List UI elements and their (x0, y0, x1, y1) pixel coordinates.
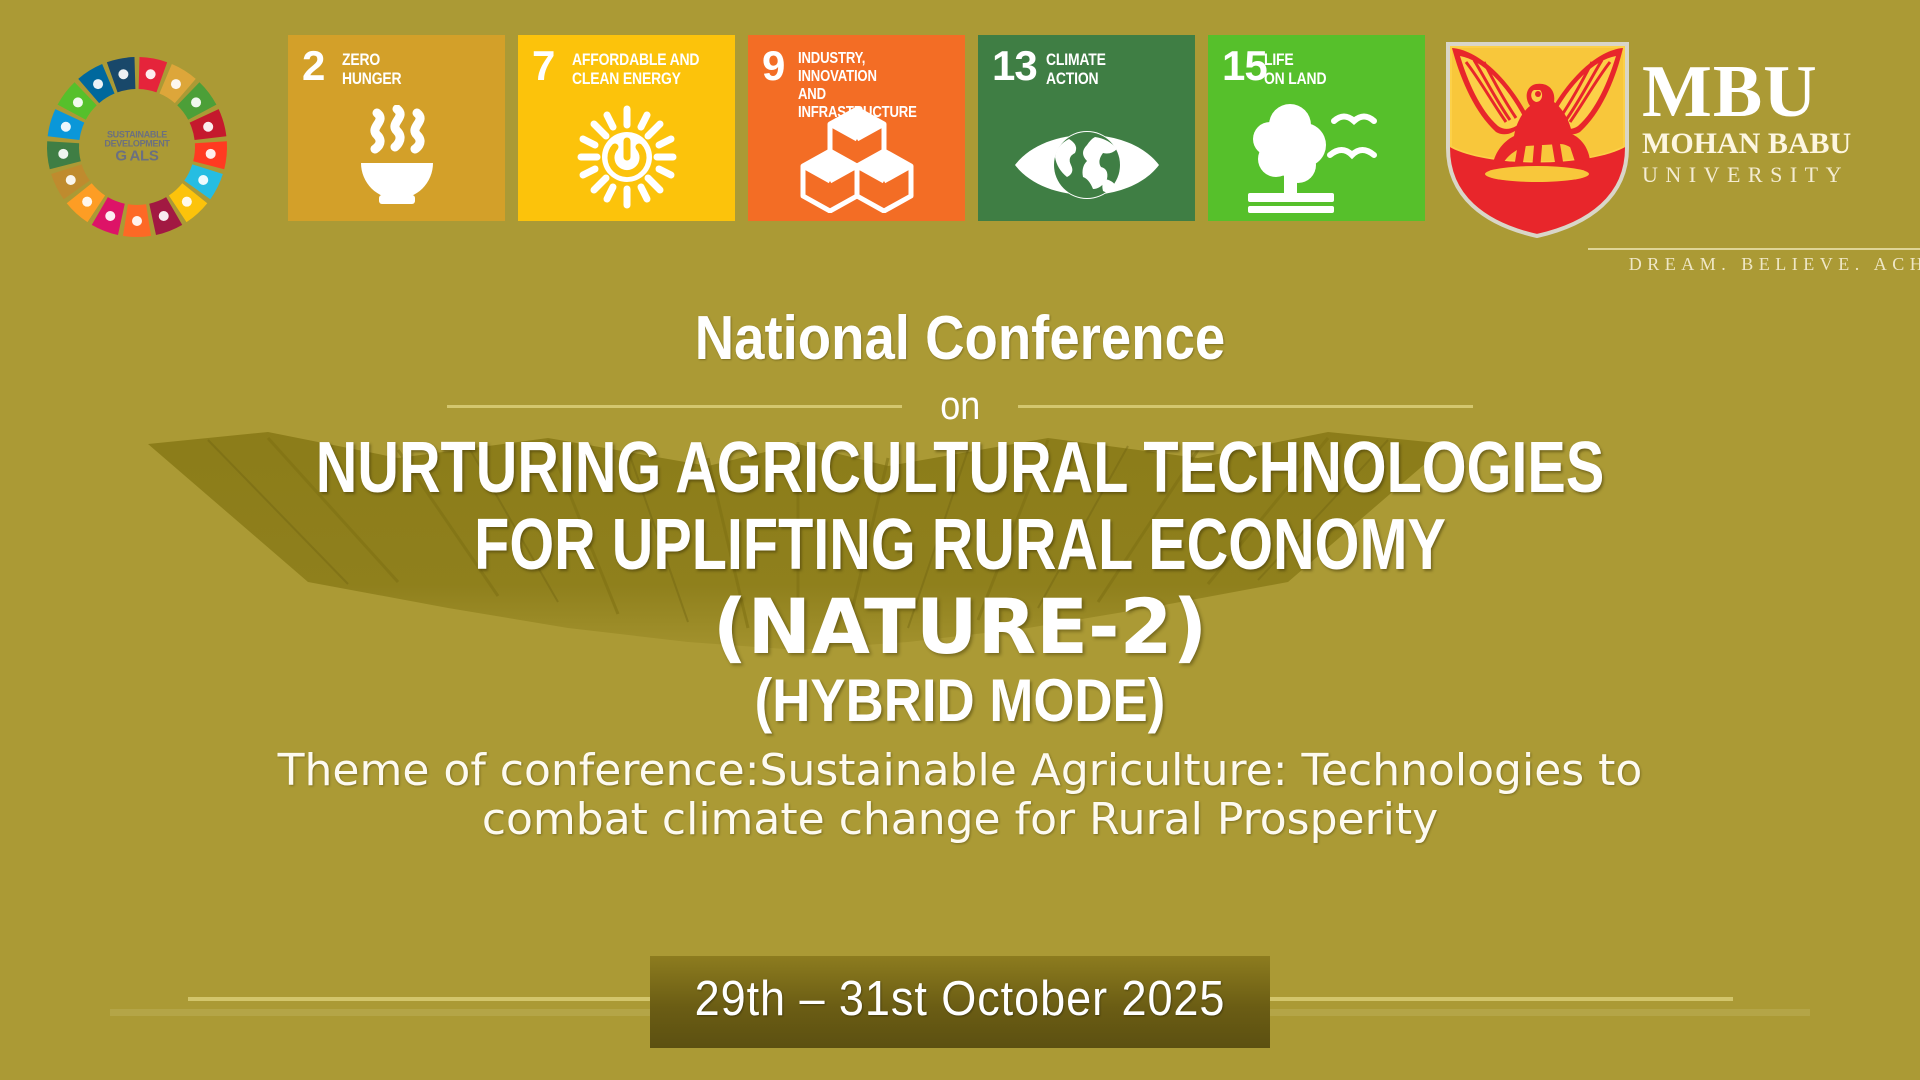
conference-mode: (HYBRID MODE) (115, 669, 1805, 732)
tree-birds-icon (1208, 97, 1425, 213)
university-logo: MBU MOHAN BABU UNIVERSITY DREAM. BELIEVE… (1430, 20, 1900, 270)
conference-dates: 29th – 31st October 2025 (675, 971, 1245, 1027)
sdg-tile-9-number: 9 (762, 45, 784, 87)
header-band: SUSTAINABLE DEVELOPMENT G ALS 2 ZERO HUN… (0, 0, 1920, 290)
conference-acronym: (NATURE-2) (0, 587, 1920, 667)
sdg-goal-tiles: 2 ZERO HUNGER 7 AFFORDABLE AND CLEAN ENE… (288, 35, 1425, 221)
sdg-tile-7: 7 AFFORDABLE AND CLEAN ENERGY (518, 35, 735, 221)
bowl-steam-icon (288, 105, 505, 213)
sdg-tile-7-label: AFFORDABLE AND CLEAN ENERGY (572, 50, 699, 88)
main-content: National Conference on NURTURING AGRICUL… (0, 290, 1920, 844)
sdg-tile-15-label: LIFE ON LAND (1264, 50, 1326, 88)
sdg-tile-15: 15 LIFE ON LAND (1208, 35, 1425, 221)
sdg-tile-2: 2 ZERO HUNGER (288, 35, 505, 221)
university-acronym: MBU (1642, 58, 1902, 126)
connector-word: on (908, 384, 1013, 429)
university-name: MOHAN BABU (1642, 128, 1902, 160)
university-tagline: DREAM. BELIEVE. ACHIEVE (1590, 254, 1920, 275)
sdg-tile-13: 13 CLIMATE ACTION (978, 35, 1195, 221)
connector-row: on (0, 376, 1920, 436)
conference-title-line-2: FOR UPLIFTING RURAL ECONOMY (192, 509, 1728, 582)
date-band: 29th – 31st October 2025 (0, 965, 1920, 1055)
sdg-tile-2-number: 2 (302, 45, 324, 87)
mbu-griffin-crest-icon (1430, 28, 1645, 243)
sdg-tile-2-label: ZERO HUNGER (342, 50, 401, 88)
cubes-icon (748, 105, 965, 213)
university-wordmark: MBU MOHAN BABU UNIVERSITY (1642, 58, 1902, 187)
logo-divider (1588, 248, 1920, 250)
sdg-tile-13-label: CLIMATE ACTION (1046, 50, 1106, 88)
conference-theme: Theme of conference:Sustainable Agricult… (0, 746, 1920, 845)
sun-power-icon (518, 101, 735, 213)
university-type: UNIVERSITY (1642, 163, 1902, 187)
event-type-heading: National Conference (115, 308, 1805, 370)
sdg-color-wheel-icon: SUSTAINABLE DEVELOPMENT G ALS (42, 52, 232, 242)
right-rule (1018, 405, 1473, 408)
left-rule (447, 405, 902, 408)
sdg-tile-9: 9 INDUSTRY, INNOVATION AND INFRASTRUCTUR… (748, 35, 965, 221)
sdg-caption-line3: G ALS (104, 149, 169, 164)
eye-globe-icon (978, 117, 1195, 213)
sdg-tile-13-number: 13 (992, 45, 1037, 87)
sdg-tile-15-number: 15 (1222, 45, 1267, 87)
sdg-wheel-caption: SUSTAINABLE DEVELOPMENT G ALS (104, 131, 169, 164)
poster-canvas: SUSTAINABLE DEVELOPMENT G ALS 2 ZERO HUN… (0, 0, 1920, 1080)
sdg-tile-7-number: 7 (532, 45, 554, 87)
conference-title-line-1: NURTURING AGRICULTURAL TECHNOLOGIES (192, 432, 1728, 505)
